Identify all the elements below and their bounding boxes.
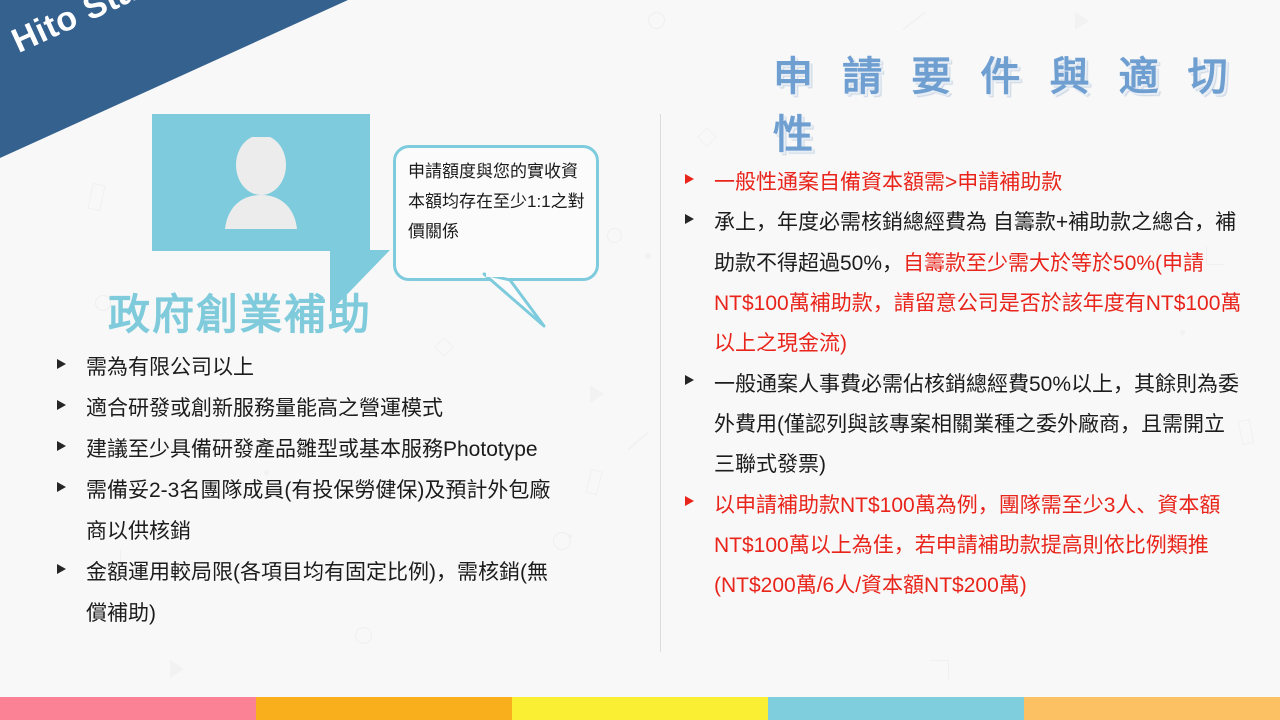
list-item: 需為有限公司以上	[48, 348, 568, 389]
list-item-text: 以申請補助款NT$100萬為例，團隊需至少3人、資本額NT$100萬以上為佳，若…	[714, 494, 1220, 598]
left-heading: 政府創業補助	[108, 281, 372, 342]
page-title: 申 請 要 件 與 適 切 性	[773, 44, 1280, 160]
triangle-bullet-icon	[57, 564, 66, 574]
list-item: 承上，年度必需核銷總經費為 自籌款+補助款之總合，補助款不得超過50%，自籌款至…	[676, 203, 1244, 364]
triangle-bullet-icon	[57, 400, 66, 410]
triangle-bullet-icon	[57, 441, 66, 451]
list-item: 建議至少具備研發產品雛型或基本服務Phototype	[48, 430, 568, 471]
slide-canvas: Hito Start Up .Tw 申請額度與您的實收資本額均存在至少1:1之對…	[0, 0, 1280, 720]
footer-color-bar	[0, 697, 1280, 720]
list-item: 適合研發或創新服務量能高之營運模式	[48, 389, 568, 430]
triangle-bullet-icon	[685, 174, 694, 184]
list-item: 一般通案人事費必需佔核銷總經費50%以上，其餘則為委外費用(僅認列與該專案相關業…	[676, 365, 1244, 486]
triangle-bullet-icon	[685, 214, 694, 224]
triangle-bullet-icon	[57, 482, 66, 492]
right-bullet-list: 一般性通案自備資本額需>申請補助款承上，年度必需核銷總經費為 自籌款+補助款之總…	[676, 163, 1244, 606]
list-item: 以申請補助款NT$100萬為例，團隊需至少3人、資本額NT$100萬以上為佳，若…	[676, 486, 1244, 607]
list-item-text: 一般通案人事費必需佔核銷總經費50%以上，其餘則為委外費用(僅認列與該專案相關業…	[714, 373, 1239, 477]
list-item-text: 需為有限公司以上	[86, 356, 254, 379]
speech-bubble-text: 申請額度與您的實收資本額均存在至少1:1之對價關係	[408, 157, 586, 246]
footer-color-segment-4	[768, 697, 1024, 720]
avatar-box	[152, 114, 370, 251]
list-item-text: 一般性通案自備資本額需>申請補助款	[714, 171, 1062, 194]
list-item: 金額運用較局限(各項目均有固定比例)，需核銷(無償補助)	[48, 553, 568, 635]
left-bullet-list: 需為有限公司以上適合研發或創新服務量能高之營運模式建議至少具備研發產品雛型或基本…	[48, 348, 568, 635]
speech-bubble: 申請額度與您的實收資本額均存在至少1:1之對價關係	[393, 145, 599, 281]
list-item-text: 適合研發或創新服務量能高之營運模式	[86, 397, 443, 420]
list-item-text: 需備妥2-3名團隊成員(有投保勞健保)及預計外包廠商以供核銷	[86, 479, 550, 543]
triangle-bullet-icon	[685, 496, 694, 506]
footer-color-segment-3	[512, 697, 768, 720]
list-item-text: 建議至少具備研發產品雛型或基本服務Phototype	[86, 438, 538, 461]
triangle-bullet-icon	[685, 375, 694, 385]
list-item: 需備妥2-3名團隊成員(有投保勞健保)及預計外包廠商以供核銷	[48, 471, 568, 553]
speech-bubble-tail	[480, 272, 550, 334]
column-divider	[660, 114, 661, 652]
footer-color-segment-1	[0, 697, 256, 720]
list-item: 一般性通案自備資本額需>申請補助款	[676, 163, 1244, 203]
footer-color-segment-2	[256, 697, 512, 720]
person-avatar-icon	[209, 137, 313, 229]
footer-color-segment-5	[1024, 697, 1280, 720]
triangle-bullet-icon	[57, 359, 66, 369]
list-item-text: 金額運用較局限(各項目均有固定比例)，需核銷(無償補助)	[86, 561, 548, 625]
